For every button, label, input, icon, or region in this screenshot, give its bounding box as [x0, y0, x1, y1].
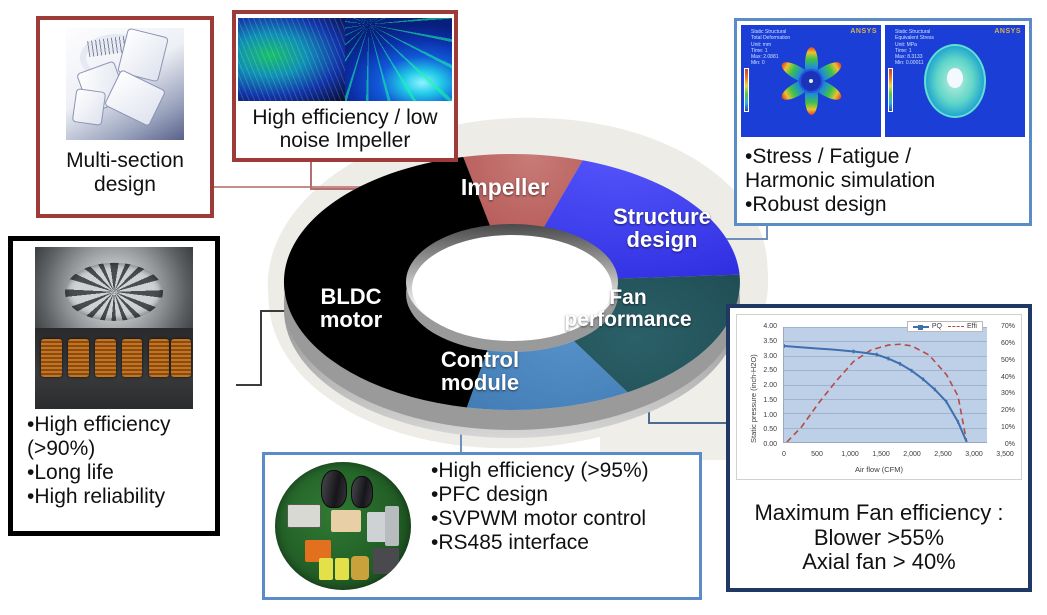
y2tick-70: 70% — [1001, 323, 1015, 330]
callout-structure-design[interactable]: ANSYS Static StructuralTotal Deformation… — [734, 18, 1032, 226]
control-bullet-0: High efficiency (>95%) — [431, 459, 693, 483]
y2tick-40: 40% — [1001, 374, 1015, 381]
structure-bullet-0-cont: Harmonic simulation — [745, 169, 1023, 193]
chart-series-svg — [784, 327, 987, 442]
xtick-0: 0 — [778, 451, 790, 458]
xtick-3000: 3,000 — [961, 451, 987, 458]
chart-ylabel: Static pressure (inch-H2O) — [749, 354, 758, 443]
legend-label-effi: Effi — [967, 323, 977, 330]
fea-housing-model — [924, 44, 986, 118]
callout-fan-performance[interactable]: PQ Effi 4.00 3.50 3.00 2.50 2.00 1.50 1.… — [726, 304, 1032, 592]
xtick-3500: 3,500 — [992, 451, 1018, 458]
y2tick-20: 20% — [1001, 407, 1015, 414]
control-bullet-1: PFC design — [431, 483, 693, 507]
y2tick-60: 60% — [1001, 340, 1015, 347]
callout-multi-section-design[interactable]: Multi-section design — [36, 16, 214, 218]
legend-label-pq: PQ — [932, 323, 942, 330]
control-bullets: High efficiency (>95%) PFC design SVPWM … — [417, 455, 699, 597]
ansys-watermark: ANSYS — [850, 28, 877, 35]
xtick-500: 500 — [806, 451, 828, 458]
structure-bullet-0: Stress / Fatigue / — [745, 145, 1023, 169]
y2tick-10: 10% — [1001, 424, 1015, 431]
callout-control-module[interactable]: High efficiency (>95%) PFC design SVPWM … — [262, 452, 702, 600]
multi-section-caption: Multi-section design — [60, 146, 190, 201]
fea-pane-housing: ANSYS Static StructuralEquivalent Stress… — [885, 25, 1025, 137]
fea-colorbar-right — [888, 68, 893, 113]
legend-item-effi: Effi — [948, 323, 977, 330]
series-effi-line — [787, 344, 967, 442]
technology-ring — [262, 132, 762, 442]
control-pcb-photo — [275, 462, 411, 590]
series-pq-markers — [784, 344, 959, 424]
bldc-bullet-1: Long life — [27, 461, 209, 485]
bldc-bullet-2: High reliability — [27, 485, 209, 509]
fan-performance-chart: PQ Effi 4.00 3.50 3.00 2.50 2.00 1.50 1.… — [736, 314, 1022, 480]
impeller-cfd-caption: High efficiency / low noise Impeller — [246, 103, 443, 158]
fea-result-caption-left: Static StructuralTotal DeformationUnit: … — [751, 29, 790, 67]
y2tick-50: 50% — [1001, 357, 1015, 364]
motor-rotor-view — [35, 247, 193, 328]
cfd-pane-right — [345, 18, 452, 101]
control-bullet-3: RS485 interface — [431, 531, 693, 555]
cad-blade-section-render — [66, 28, 184, 140]
bldc-bullet-0: High efficiency — [27, 413, 209, 437]
ytick-4: 4.00 — [745, 323, 777, 330]
chart-plot-area: PQ Effi — [783, 327, 987, 443]
callout-bldc-motor[interactable]: High efficiency (>90%) Long life High re… — [8, 236, 220, 536]
legend-swatch-effi — [948, 326, 964, 327]
structure-bullets: Stress / Fatigue / Harmonic simulation R… — [737, 141, 1029, 221]
fea-pane-impeller: ANSYS Static StructuralTotal Deformation… — [741, 25, 881, 137]
structure-bullet-1: Robust design — [745, 193, 1023, 217]
legend-swatch-pq — [913, 326, 929, 328]
cfd-impeller-simulation — [238, 18, 452, 101]
fan-performance-caption: Maximum Fan efficiency : Blower >55% Axi… — [730, 498, 1028, 580]
chart-xlabel: Air flow (CFM) — [737, 465, 1021, 474]
bldc-bullets: High efficiency (>90%) Long life High re… — [13, 409, 215, 513]
control-bullet-2: SVPWM motor control — [431, 507, 693, 531]
xtick-2500: 2,500 — [930, 451, 956, 458]
chart-legend: PQ Effi — [907, 321, 983, 332]
cfd-pane-left — [238, 18, 345, 101]
y2tick-0: 0% — [1005, 441, 1015, 448]
bldc-bullet-0-cont: (>90%) — [27, 437, 209, 461]
fea-colorbar-left — [744, 68, 749, 113]
ansys-watermark-2: ANSYS — [994, 28, 1021, 35]
y2tick-30: 30% — [1001, 390, 1015, 397]
ytick-3_5: 3.50 — [745, 338, 777, 345]
xtick-1500: 1,500 — [868, 451, 894, 458]
legend-item-pq: PQ — [913, 323, 942, 330]
motor-stator-view — [35, 328, 193, 409]
ansys-fea-results: ANSYS Static StructuralTotal Deformation… — [741, 25, 1025, 137]
series-pq-line — [784, 346, 967, 442]
xtick-2000: 2,000 — [899, 451, 925, 458]
slide-canvas: Impeller Structure design Fan performanc… — [0, 0, 1047, 615]
callout-impeller-cfd[interactable]: High efficiency / low noise Impeller — [232, 10, 458, 162]
bldc-motor-stator-photo — [35, 247, 193, 409]
xtick-1000: 1,000 — [837, 451, 863, 458]
